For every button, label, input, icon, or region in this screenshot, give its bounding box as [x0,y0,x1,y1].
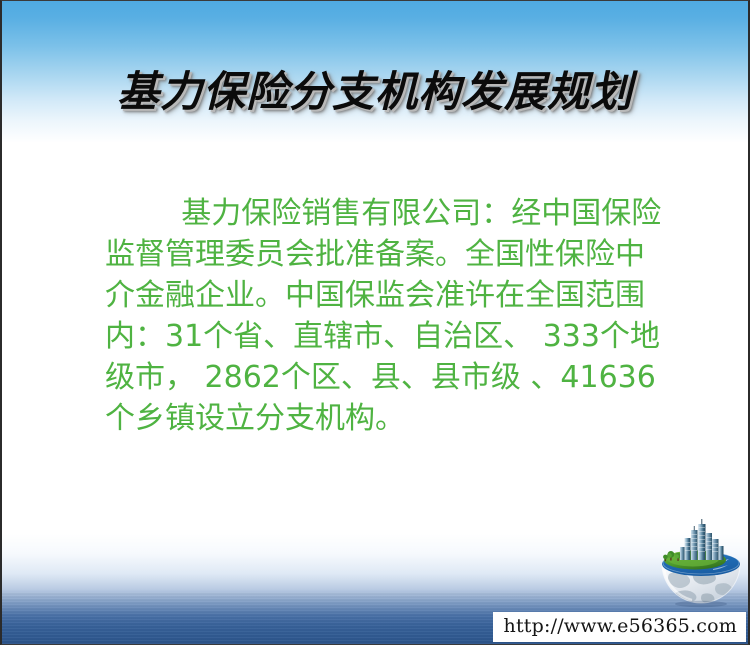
slide-title: 基力保险分支机构发展规划 [2,58,748,119]
slide-body-text: 基力保险销售有限公司：经中国保险监督管理委员会批准备案。全国性保险中介金融企业。… [105,193,671,439]
globe-city-illustration [655,516,747,608]
presentation-slide: 基力保险分支机构发展规划 基力保险销售有限公司：经中国保险监督管理委员会批准备案… [0,0,750,645]
watermark-url: http://www.e56365.com [493,612,746,642]
